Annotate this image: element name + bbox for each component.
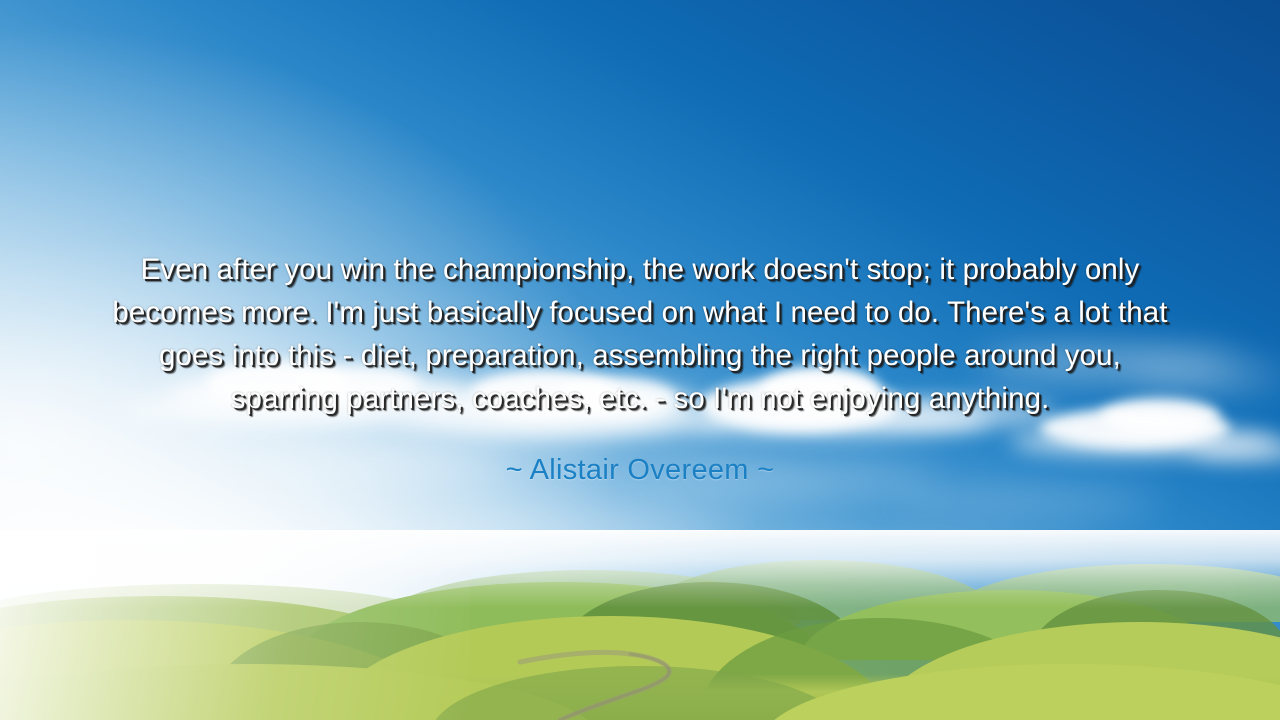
quote-text: Even after you win the championship, the…: [106, 248, 1174, 420]
quote-block: Even after you win the championship, the…: [106, 248, 1174, 488]
quote-image-canvas: Even after you win the championship, the…: [0, 0, 1280, 720]
cloud-puff: [1190, 440, 1280, 462]
rolling-hills: [0, 530, 1280, 720]
quote-attribution: ~ Alistair Overeem ~: [106, 420, 1174, 488]
cloud-wisp: [900, 492, 1160, 510]
